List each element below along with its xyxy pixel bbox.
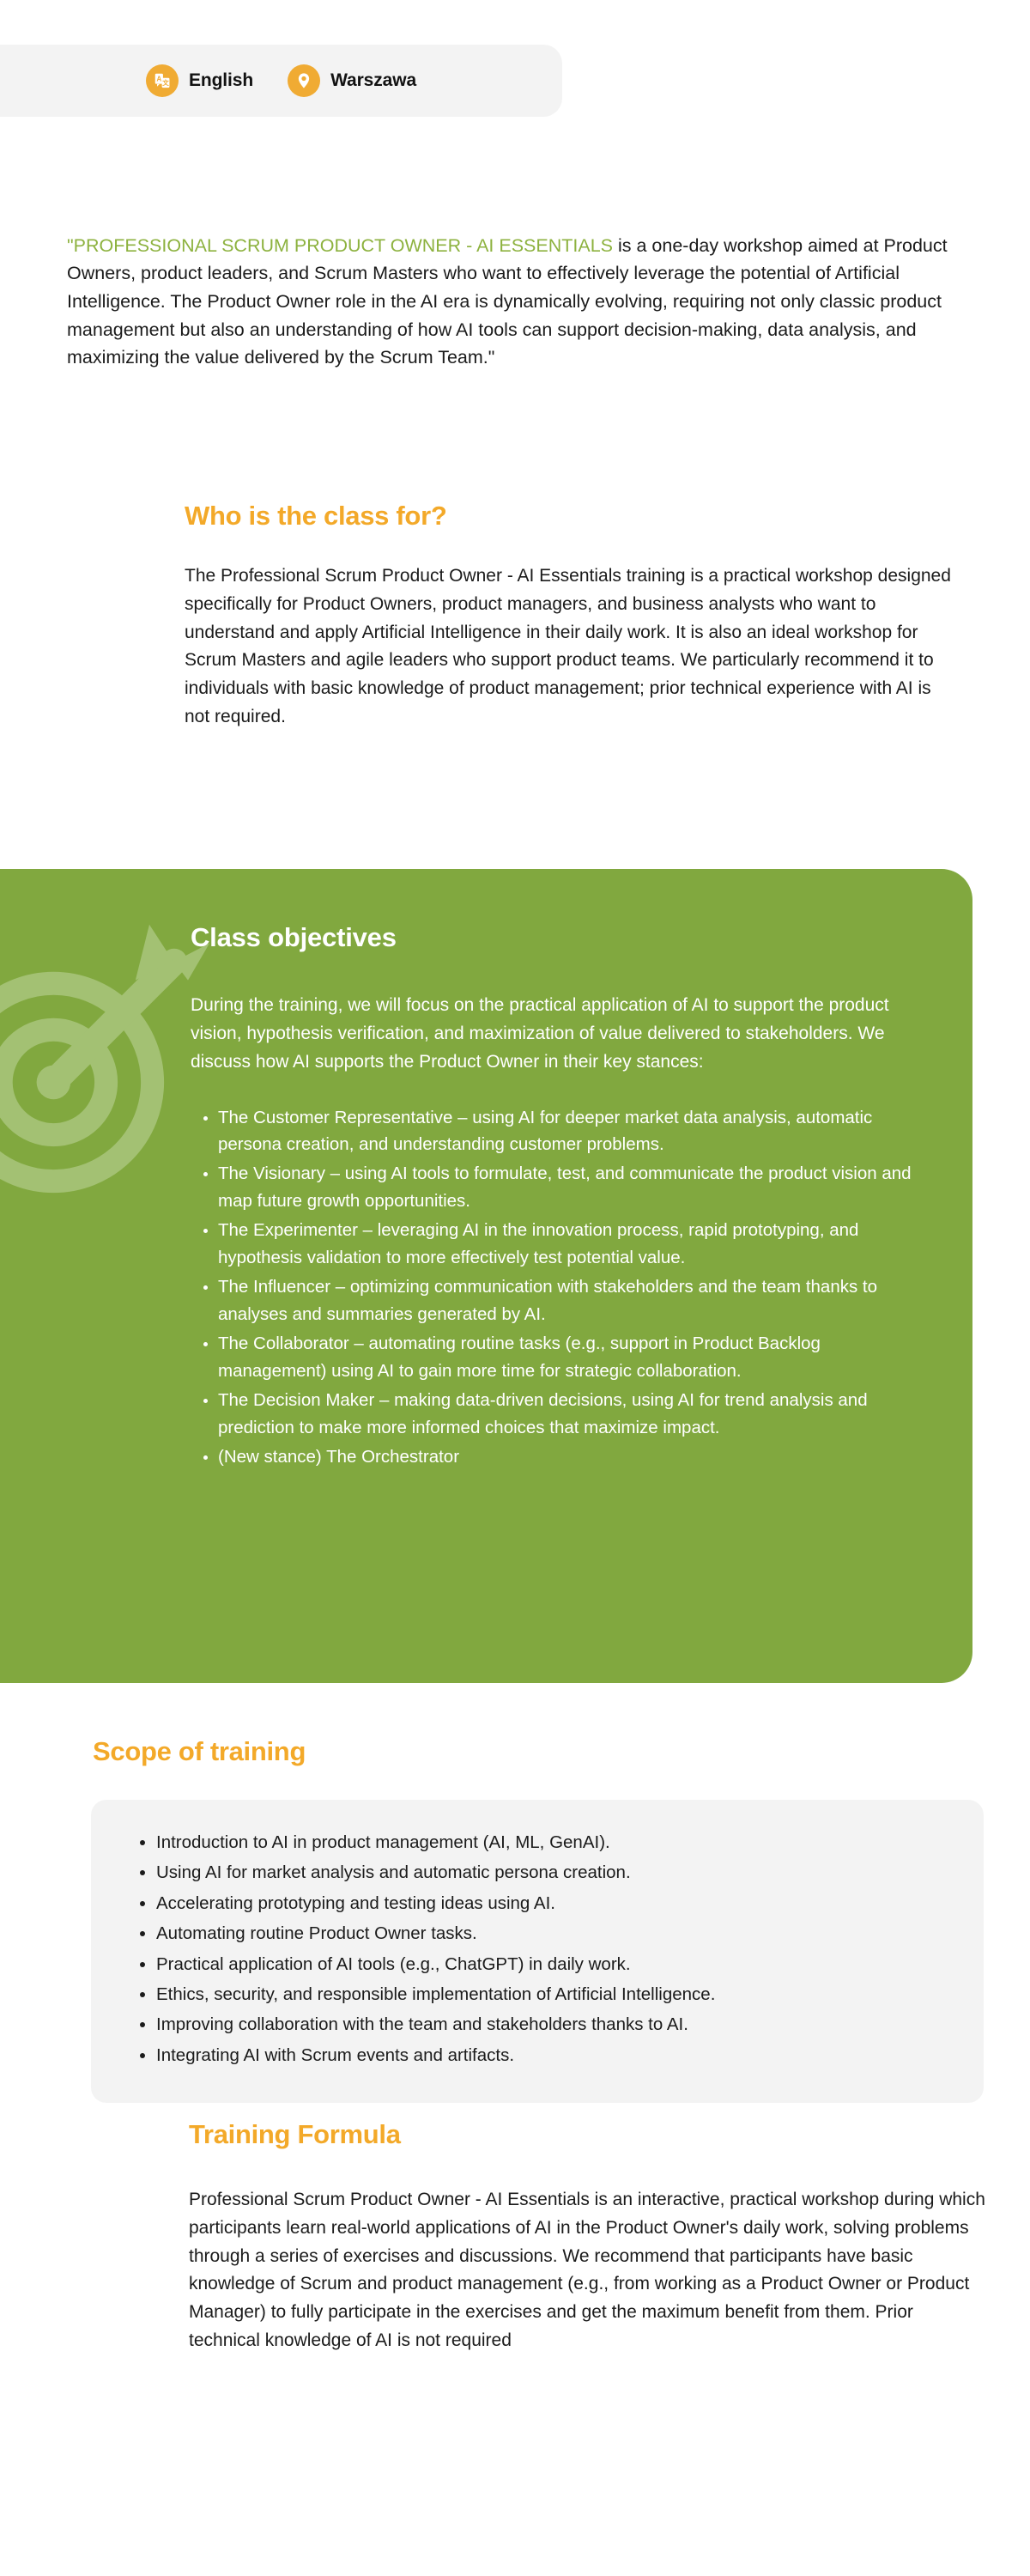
list-item: Using AI for market analysis and automat… xyxy=(156,1859,949,1886)
list-item: Practical application of AI tools (e.g.,… xyxy=(156,1951,949,1978)
svg-text:A: A xyxy=(156,76,161,83)
objectives-list: The Customer Representative – using AI f… xyxy=(191,1104,912,1472)
objectives-lead: During the training, we will focus on th… xyxy=(191,991,894,1077)
list-item: Introduction to AI in product management… xyxy=(156,1829,949,1856)
list-item: Integrating AI with Scrum events and art… xyxy=(156,2042,949,2069)
scope-section: Scope of training Introduction to AI in … xyxy=(91,1736,984,2103)
list-item: Ethics, security, and responsible implem… xyxy=(156,1981,949,2008)
formula-section: Training Formula Professional Scrum Prod… xyxy=(189,2119,1004,2373)
location-label: Warszawa xyxy=(330,70,416,91)
list-item: The Collaborator – automating routine ta… xyxy=(218,1330,912,1385)
scope-box: Introduction to AI in product management… xyxy=(91,1800,984,2103)
formula-body: Professional Scrum Product Owner - AI Es… xyxy=(189,2186,987,2355)
scope-list: Introduction to AI in product management… xyxy=(125,1829,949,2069)
audience-section: Who is the class for? The Professional S… xyxy=(185,501,987,750)
list-item: The Influencer – optimizing communicatio… xyxy=(218,1273,912,1328)
audience-body: The Professional Scrum Product Owner - A… xyxy=(185,562,957,732)
list-item: Improving collaboration with the team an… xyxy=(156,2011,949,2038)
list-item: The Decision Maker – making data-driven … xyxy=(218,1387,912,1442)
intro-highlight: "PROFESSIONAL SCRUM PRODUCT OWNER - AI E… xyxy=(67,235,613,256)
language-selector[interactable]: A 文 English xyxy=(146,64,253,97)
intro-paragraph: "PROFESSIONAL SCRUM PRODUCT OWNER - AI E… xyxy=(67,232,960,372)
language-label: English xyxy=(189,70,253,91)
objectives-section: Class objectives During the training, we… xyxy=(0,869,972,1683)
svg-text:文: 文 xyxy=(162,78,169,87)
list-item: The Customer Representative – using AI f… xyxy=(218,1104,912,1159)
list-item: Accelerating prototyping and testing ide… xyxy=(156,1890,949,1917)
list-item: Automating routine Product Owner tasks. xyxy=(156,1920,949,1947)
translate-icon: A 文 xyxy=(146,64,179,97)
location-pin-icon xyxy=(288,64,320,97)
objectives-title: Class objectives xyxy=(191,922,895,953)
list-item: The Experimenter – leveraging AI in the … xyxy=(218,1217,912,1272)
audience-title: Who is the class for? xyxy=(185,501,987,532)
list-item: (New stance) The Orchestrator xyxy=(218,1443,912,1471)
meta-bar: A 文 English Warszawa xyxy=(0,45,562,117)
list-item: The Visionary – using AI tools to formul… xyxy=(218,1160,912,1215)
location-selector[interactable]: Warszawa xyxy=(288,64,416,97)
scope-title: Scope of training xyxy=(93,1736,984,1767)
formula-title: Training Formula xyxy=(189,2119,1004,2150)
